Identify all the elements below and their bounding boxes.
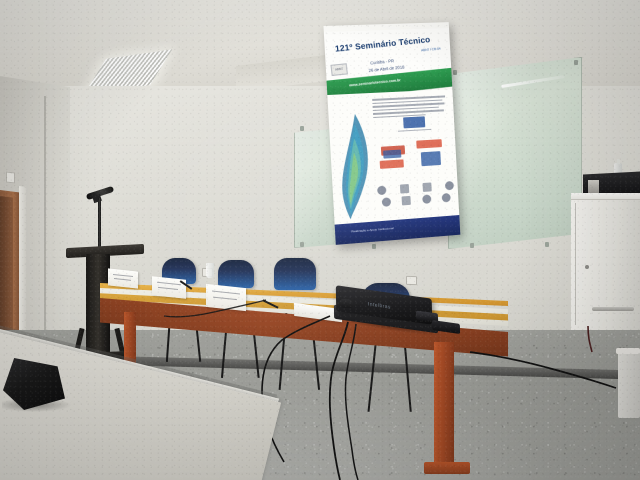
poster-logo-f xyxy=(402,196,411,206)
poster-body xyxy=(327,89,459,224)
poster-logo-g xyxy=(422,194,431,204)
name-card-3[interactable] xyxy=(206,284,246,311)
poster-support-logos-row-2 xyxy=(382,193,451,207)
wall-outlet-right[interactable] xyxy=(406,276,417,285)
chair-backrest xyxy=(218,260,254,288)
name-card-text-line xyxy=(212,291,240,295)
poster-sponsor-logo-5 xyxy=(383,150,401,159)
waste-bin[interactable] xyxy=(618,350,640,418)
name-card-text-line xyxy=(114,278,131,281)
av-equipment-panel xyxy=(588,180,599,193)
whiteboard-clip-1 xyxy=(300,126,304,131)
whiteboard-light-reflection xyxy=(501,75,565,88)
whiteboard-clip-6 xyxy=(372,244,376,249)
poster-footer-text: Realização e Apoio Institucional xyxy=(351,226,394,233)
table-leg-right xyxy=(434,342,454,468)
poster-sponsor-logo-3 xyxy=(380,159,404,169)
table-foot-right xyxy=(424,462,470,474)
name-card-1[interactable] xyxy=(108,268,138,288)
poster-logo-b xyxy=(400,184,409,194)
poster-badge: ABNT xyxy=(330,63,347,76)
name-card-text-line xyxy=(213,297,237,301)
name-card-text-line xyxy=(158,287,178,290)
name-card-text-line xyxy=(157,282,181,286)
whiteboard-clip-5 xyxy=(300,242,304,247)
glass-whiteboard-right[interactable] xyxy=(448,57,582,249)
water-cup[interactable] xyxy=(206,263,214,278)
whiteboard-clip-7 xyxy=(470,243,474,248)
cabinet-lock-icon[interactable] xyxy=(585,265,589,269)
waste-bin-rim xyxy=(616,348,640,354)
mouse-device[interactable] xyxy=(339,299,354,309)
whiteboard-clip-3 xyxy=(453,70,457,75)
seminar-poster-banner[interactable]: 121º Seminário Técnico ABNT / CB-04 Curi… xyxy=(323,22,460,245)
whiteboard-sheen-right xyxy=(449,58,581,248)
poster-logo-h xyxy=(442,193,451,202)
poster-url-text: www.seminariotecnico.com.br xyxy=(349,78,401,87)
chair-backrest xyxy=(274,258,316,290)
light-switch[interactable] xyxy=(6,171,15,183)
wall-corner-line xyxy=(44,96,46,366)
seminar-room-photo: 121º Seminário Técnico ABNT / CB-04 Curi… xyxy=(0,0,640,480)
poster-logo-e xyxy=(382,197,391,207)
poster-organizer-caption xyxy=(398,129,431,132)
cabinet-door-edge xyxy=(575,203,576,325)
poster-sponsor-logo-4 xyxy=(421,151,441,166)
whiteboard-clip-8 xyxy=(545,242,549,247)
poster-flame-graphic xyxy=(332,111,378,222)
name-card-text-line xyxy=(113,274,133,277)
cabinet-handle[interactable] xyxy=(592,307,634,311)
poster-logo-c xyxy=(422,182,431,192)
poster-logo-a xyxy=(377,186,386,196)
whiteboard-clip-4 xyxy=(574,60,578,65)
poster-sponsor-logo-2 xyxy=(416,139,442,148)
poster-organizer-logo xyxy=(403,116,425,128)
poster-logo-d xyxy=(445,181,454,190)
